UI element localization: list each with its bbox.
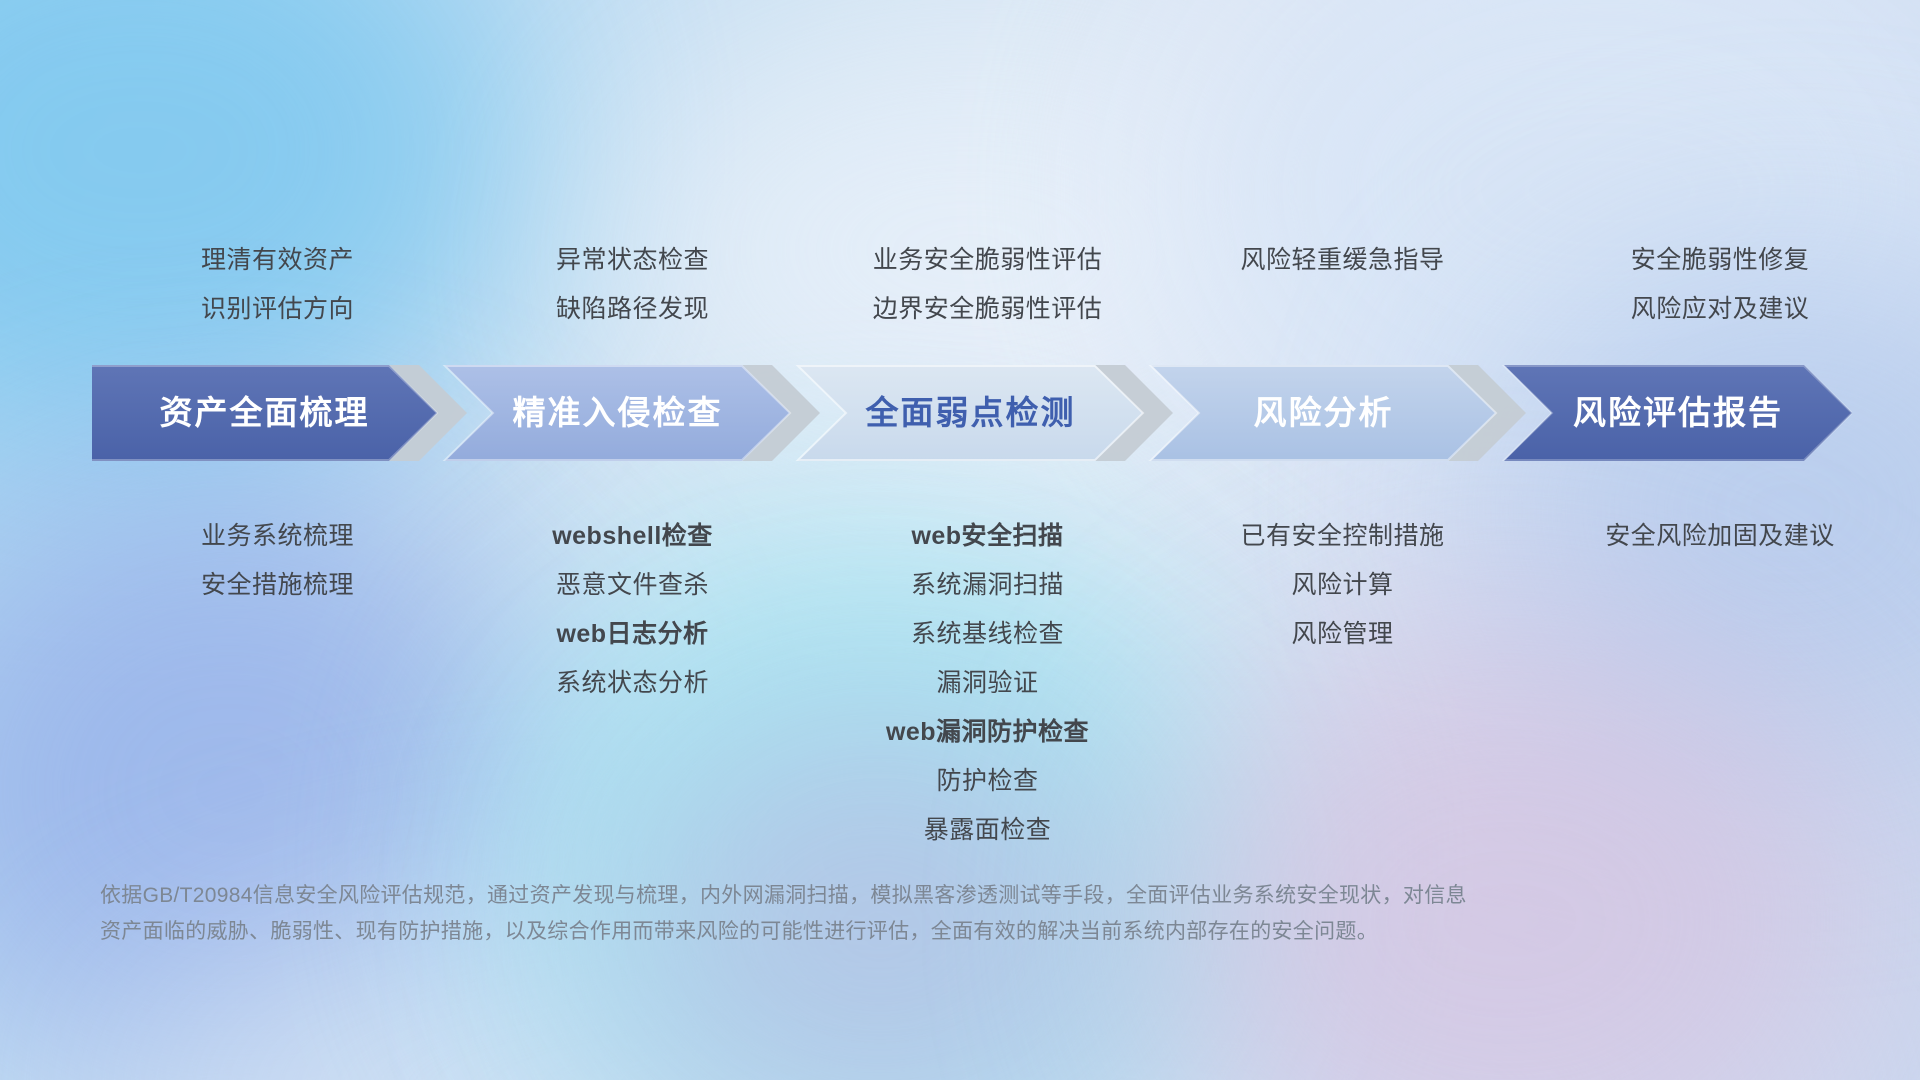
task-item: 风险管理 [1165, 610, 1520, 659]
chevron-step-3[interactable] [798, 365, 1143, 461]
outcomes-column-2: 异常状态检查 缺陷路径发现 [455, 236, 810, 334]
chevron-step-1[interactable] [92, 365, 437, 461]
task-item: 业务系统梳理 [100, 512, 455, 561]
task-item: 风险计算 [1165, 561, 1520, 610]
outcome-item: 安全脆弱性修复 [1520, 236, 1920, 285]
tasks-column-3: web安全扫描 系统漏洞扫描 系统基线检查 漏洞验证 web漏洞防护检查 防护检… [810, 512, 1165, 855]
outcome-item: 风险轻重缓急指导 [1165, 236, 1520, 285]
task-item: web日志分析 [455, 610, 810, 659]
task-item: web漏洞防护检查 [810, 708, 1165, 757]
task-item: 安全风险加固及建议 [1520, 512, 1920, 561]
task-item: 系统漏洞扫描 [810, 561, 1165, 610]
task-item: 漏洞验证 [810, 659, 1165, 708]
outcomes-column-4: 风险轻重缓急指导 [1165, 236, 1520, 334]
tasks-band: 业务系统梳理 安全措施梳理 webshell检查 恶意文件查杀 web日志分析 … [0, 512, 1920, 855]
outcome-item: 理清有效资产 [100, 236, 455, 285]
outcome-item: 异常状态检查 [455, 236, 810, 285]
diagram-root: 理清有效资产 识别评估方向 异常状态检查 缺陷路径发现 业务安全脆弱性评估 边界… [0, 0, 1920, 1080]
outcome-item: 业务安全脆弱性评估 [810, 236, 1165, 285]
outcome-item: 边界安全脆弱性评估 [810, 285, 1165, 334]
tasks-column-2: webshell检查 恶意文件查杀 web日志分析 系统状态分析 [455, 512, 810, 855]
outcomes-column-3: 业务安全脆弱性评估 边界安全脆弱性评估 [810, 236, 1165, 334]
outcome-item: 识别评估方向 [100, 285, 455, 334]
task-item: 恶意文件查杀 [455, 561, 810, 610]
chevron-shapes [92, 365, 1852, 461]
outcomes-column-1: 理清有效资产 识别评估方向 [100, 236, 455, 334]
tasks-column-5: 安全风险加固及建议 [1520, 512, 1920, 855]
task-item: 已有安全控制措施 [1165, 512, 1520, 561]
chevron-step-4[interactable] [1151, 365, 1496, 461]
footer-line-2: 资产面临的威胁、脆弱性、现有防护措施，以及综合作用而带来风险的可能性进行评估，全… [100, 914, 1740, 950]
tasks-column-1: 业务系统梳理 安全措施梳理 [100, 512, 455, 855]
outcomes-column-5: 安全脆弱性修复 风险应对及建议 [1520, 236, 1920, 334]
task-item: 安全措施梳理 [100, 561, 455, 610]
outcomes-band: 理清有效资产 识别评估方向 异常状态检查 缺陷路径发现 业务安全脆弱性评估 边界… [0, 236, 1920, 334]
footer-description: 依据GB/T20984信息安全风险评估规范，通过资产发现与梳理，内外网漏洞扫描，… [100, 878, 1740, 950]
process-chevron-strip [92, 365, 1852, 461]
task-item: 暴露面检查 [810, 806, 1165, 855]
footer-line-1: 依据GB/T20984信息安全风险评估规范，通过资产发现与梳理，内外网漏洞扫描，… [100, 878, 1740, 914]
outcome-item: 风险应对及建议 [1520, 285, 1920, 334]
tasks-column-4: 已有安全控制措施 风险计算 风险管理 [1165, 512, 1520, 855]
task-item: 系统基线检查 [810, 610, 1165, 659]
task-item: webshell检查 [455, 512, 810, 561]
chevron-step-5[interactable] [1504, 365, 1852, 461]
task-item: web安全扫描 [810, 512, 1165, 561]
chevron-step-2[interactable] [445, 365, 790, 461]
outcome-item: 缺陷路径发现 [455, 285, 810, 334]
task-item: 系统状态分析 [455, 659, 810, 708]
task-item: 防护检查 [810, 757, 1165, 806]
